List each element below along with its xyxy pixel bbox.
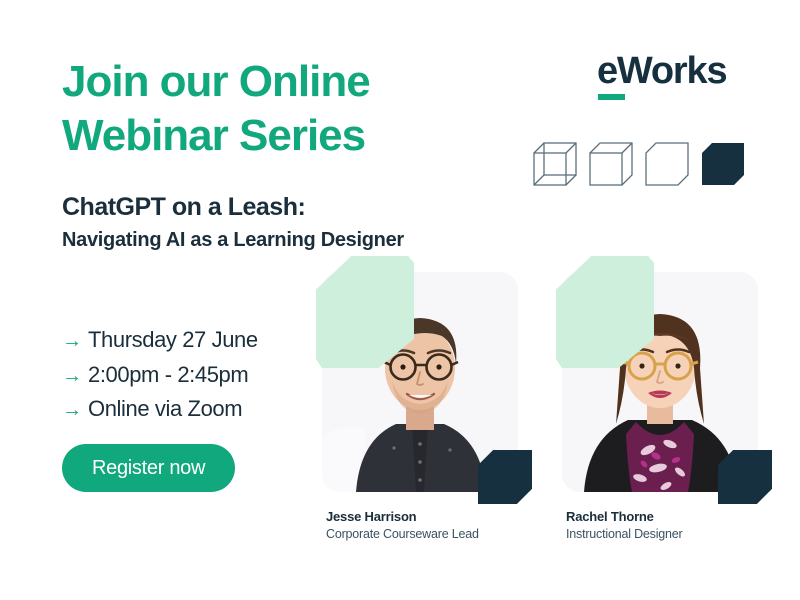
speaker-caption: Rachel Thorne Instructional Designer <box>562 508 758 542</box>
octagon-outline-icon <box>642 139 692 189</box>
list-item: → 2:00pm - 2:45pm <box>62 361 352 390</box>
logo-wordmark: eWorks <box>597 52 747 90</box>
webinar-topic-description: Navigating AI as a Learning Designer <box>62 227 522 253</box>
navy-octagon-decoration <box>478 450 532 504</box>
speaker-name: Rachel Thorne <box>566 508 758 526</box>
webinar-topic-title: ChatGPT on a Leash: <box>62 192 522 223</box>
cube-wireframe-diagonal-icon <box>530 139 580 189</box>
cube-wireframe-icon <box>586 139 636 189</box>
octagon-filled-icon <box>698 139 748 189</box>
speaker-role: Instructional Designer <box>566 526 758 543</box>
list-item: → Thursday 27 June <box>62 326 352 355</box>
page-title: Join our Online Webinar Series <box>62 55 492 162</box>
arrow-right-icon: → <box>62 366 88 386</box>
event-time: 2:00pm - 2:45pm <box>88 361 248 390</box>
list-item: → Online via Zoom <box>62 395 352 424</box>
register-button[interactable]: Register now <box>62 444 235 492</box>
speaker-photo-card <box>562 272 758 492</box>
speaker-photo-card <box>322 272 518 492</box>
event-location: Online via Zoom <box>88 395 242 424</box>
cube-decoration-group <box>530 139 752 191</box>
webinar-promo-poster: eWorks <box>0 0 800 600</box>
speaker-caption: Jesse Harrison Corporate Courseware Lead <box>322 508 518 542</box>
brand-logo: eWorks <box>597 52 747 100</box>
speaker-name: Jesse Harrison <box>326 508 518 526</box>
event-date: Thursday 27 June <box>88 326 258 355</box>
speaker-role: Corporate Courseware Lead <box>326 526 518 543</box>
arrow-right-icon: → <box>62 400 88 420</box>
arrow-right-icon: → <box>62 331 88 351</box>
speaker-card: Jesse Harrison Corporate Courseware Lead <box>322 272 518 542</box>
logo-underline-accent <box>598 94 625 100</box>
event-details-list: → Thursday 27 June → 2:00pm - 2:45pm → O… <box>62 326 352 430</box>
speaker-card: Rachel Thorne Instructional Designer <box>562 272 758 542</box>
navy-octagon-decoration <box>718 450 772 504</box>
webinar-subtitle: ChatGPT on a Leash: Navigating AI as a L… <box>62 192 522 253</box>
